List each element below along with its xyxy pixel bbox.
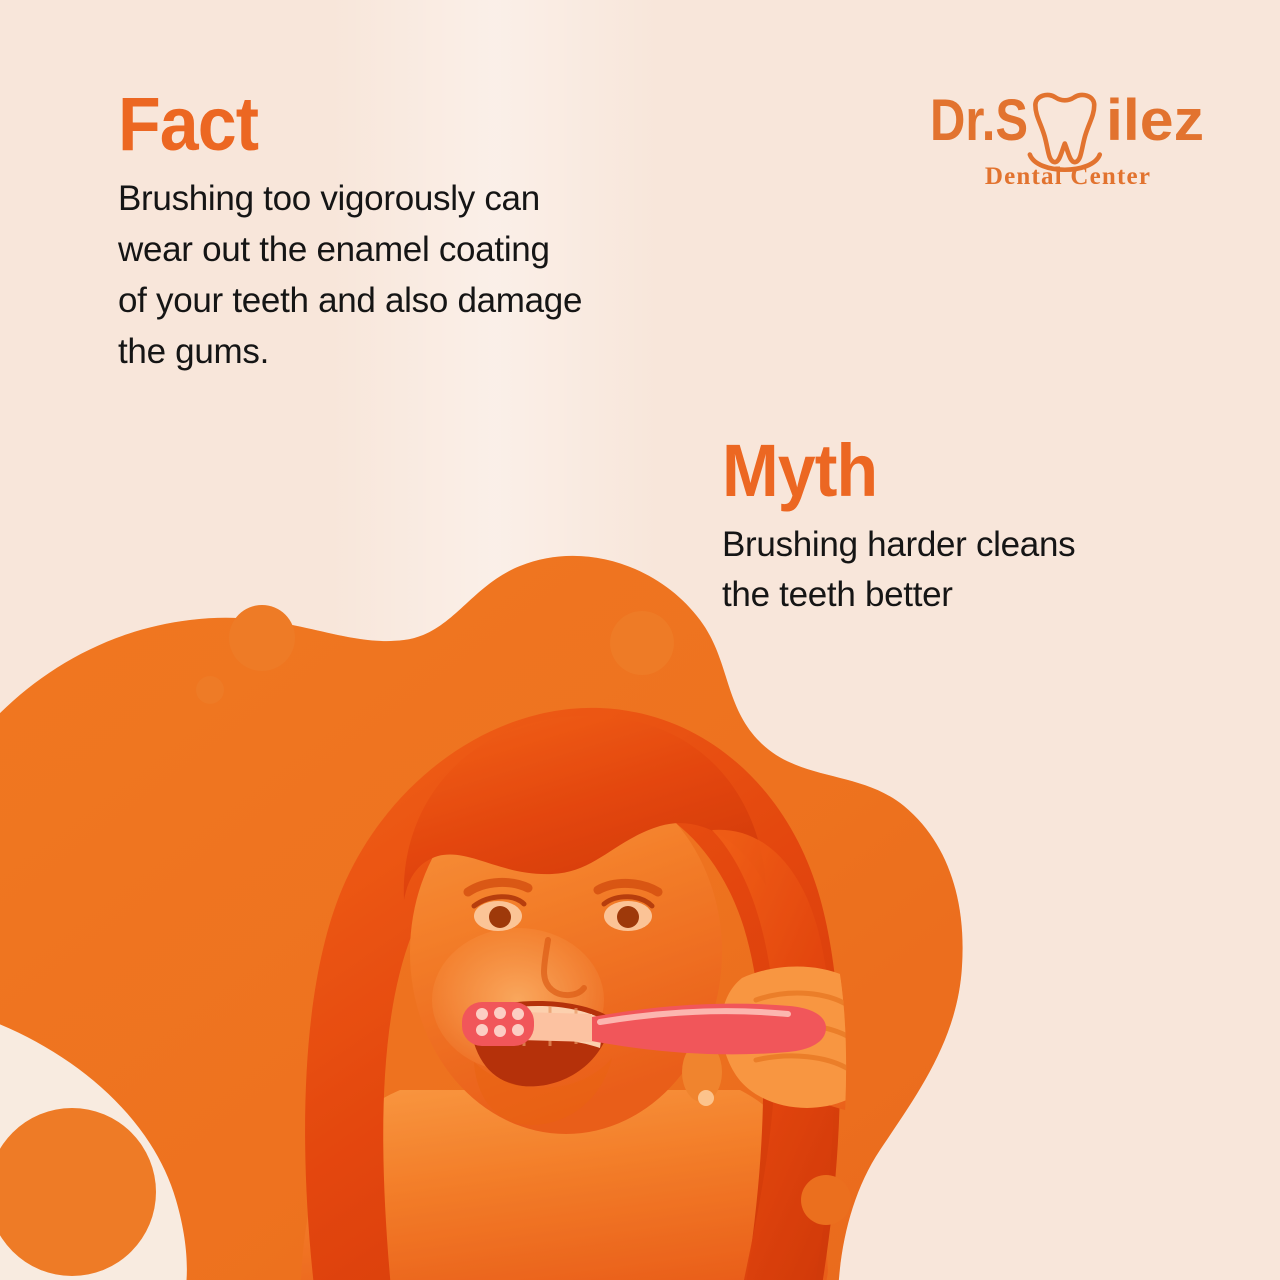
logo-name-suffix: ilez [1106, 88, 1204, 153]
circle-large-upper-left [229, 605, 295, 671]
logo-tagline: Dental Center [985, 163, 1151, 190]
fact-block: Fact Brushing too vigorously can wear ou… [118, 88, 718, 377]
circle-small-upper-left [196, 676, 224, 704]
myth-body: Brushing harder cleans the teeth better [722, 520, 1222, 622]
fact-heading: Fact [118, 88, 670, 162]
myth-heading: Myth [722, 435, 1182, 508]
poster-canvas: Fact Brushing too vigorously can wear ou… [0, 0, 1280, 1280]
myth-block: Myth Brushing harder cleans the teeth be… [722, 435, 1222, 621]
fact-body: Brushing too vigorously can wear out the… [118, 174, 718, 377]
brand-logo[interactable]: Dr.S ilez Dental Center [928, 78, 1208, 198]
tooth-icon [1030, 95, 1100, 170]
circle-bottom-right [801, 1175, 851, 1225]
logo-name-prefix: Dr.S [930, 88, 1028, 153]
circle-upper-right [610, 611, 674, 675]
